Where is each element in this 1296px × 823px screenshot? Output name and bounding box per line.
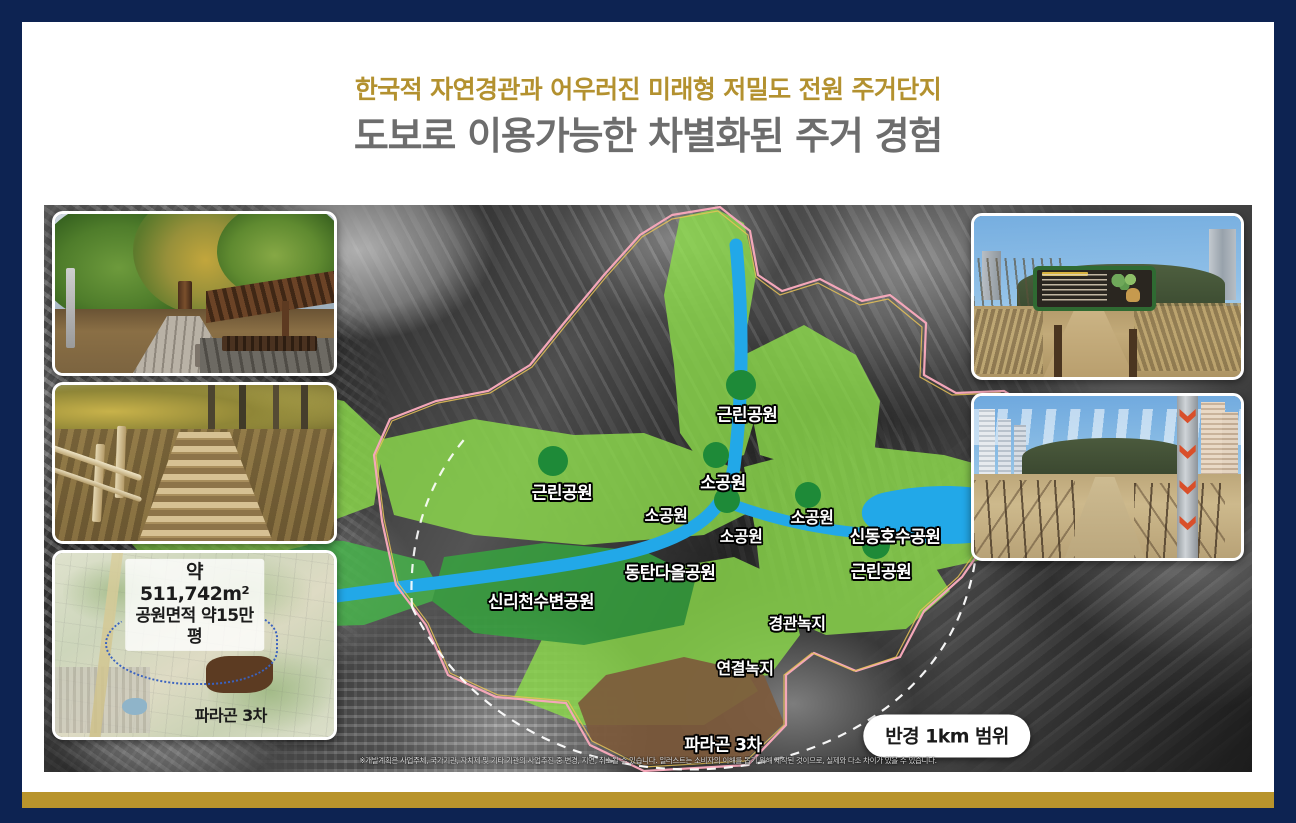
paragon-3rd-inset-label: 파라곤 3차 xyxy=(195,702,267,726)
directional-signpost xyxy=(1177,396,1198,558)
map-disclaimer: ※개발계획은 사업주체, 국가기관, 자치제 및 기타 기관의 사업추진 중 변… xyxy=(68,756,1228,766)
radius-1km-badge: 반경 1km 범위 xyxy=(863,715,1030,758)
header-block: 한국적 자연경관과 어우러진 미래형 저밀도 전원 주거단지 도보로 이용가능한… xyxy=(22,74,1274,160)
satellite-map[interactable]: 근린공원 소공원 근린공원 소공원 소공원 소공원 신동호수공원 동탄다올공원 … xyxy=(44,205,1252,772)
park-area-size: 약511,742m² xyxy=(133,560,257,606)
park-dot-center xyxy=(703,442,729,468)
autumn-forest-walkway-photo[interactable] xyxy=(52,211,337,376)
park-dot-southeast xyxy=(862,531,890,559)
page-title: 도보로 이용가능한 차별화된 주거 경험 xyxy=(22,113,1274,159)
park-area-callout: 약511,742m² 공원면적 약15만평 xyxy=(125,558,265,650)
photo-content xyxy=(974,396,1241,558)
eco-trail-signboard-photo[interactable] xyxy=(971,213,1244,380)
photo-content xyxy=(974,216,1241,377)
content-card: 한국적 자연경관과 어우러진 미래형 저밀도 전원 주거단지 도보로 이용가능한… xyxy=(22,22,1274,792)
photo-content xyxy=(55,385,334,541)
gold-accent-bar xyxy=(22,792,1274,808)
page-eyebrow: 한국적 자연경관과 어우러진 미래형 저밀도 전원 주거단지 xyxy=(22,74,1274,105)
park-area-inset-map[interactable]: 약511,742m² 공원면적 약15만평 파라곤 3차 xyxy=(52,550,337,740)
park-dot-mid xyxy=(714,487,740,513)
park-dot-north xyxy=(726,370,756,400)
park-dot-west xyxy=(538,446,568,476)
photo-content xyxy=(55,214,334,373)
orchard-and-towers-photo[interactable] xyxy=(971,393,1244,561)
trail-signboard xyxy=(1033,266,1156,311)
slide-page: 한국적 자연경관과 어우러진 미래형 저밀도 전원 주거단지 도보로 이용가능한… xyxy=(0,0,1296,823)
park-area-dongtan-daol xyxy=(432,543,696,645)
park-dot-east xyxy=(795,482,821,508)
park-area-description: 공원면적 약15만평 xyxy=(133,606,257,647)
wooden-stairway-trail-photo[interactable] xyxy=(52,382,337,544)
